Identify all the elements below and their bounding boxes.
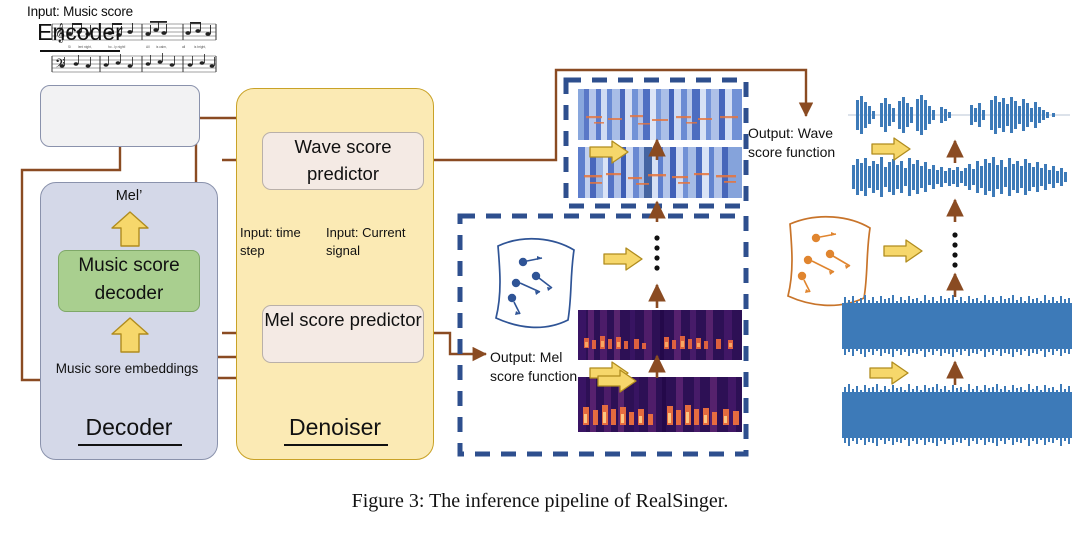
svg-text:lent night,: lent night, [78, 45, 92, 49]
yellow-up-arrow-decoder-top [108, 210, 152, 248]
yellow-right-arrow-wave-top [870, 136, 912, 162]
ellipsis-dots-wave [952, 232, 957, 267]
svg-text:is bright,: is bright, [194, 45, 206, 49]
music-score-embeddings-label: Music sore embeddings [52, 360, 202, 378]
encoder-box [40, 85, 200, 147]
yellow-right-arrow-mel-manifold [602, 246, 644, 272]
yellow-up-arrow-decoder-bottom [108, 316, 152, 354]
yellow-right-arrow-wave-spec [588, 139, 630, 165]
svg-text:Si: Si [68, 45, 71, 49]
decoder-title-underline [78, 444, 182, 446]
output-mel-score-function-label: Output: Mel score function [490, 348, 594, 386]
input-time-step-label: Input: time step [240, 224, 320, 259]
svg-text:all: all [182, 45, 185, 49]
yellow-right-arrow-mel-out [596, 368, 638, 394]
encoder-title: Encoder [0, 20, 160, 44]
yellow-right-arrow-wave-manifold [882, 238, 924, 264]
wave-score-predictor-label: Wave score predictor [262, 134, 424, 188]
output-wave-score-function-label: Output: Wave score function [748, 124, 858, 162]
denoiser-title-underline [284, 444, 388, 446]
mel-prime-label: Mel’ [40, 188, 218, 204]
mel-spectrogram-step-n [578, 310, 742, 360]
yellow-right-arrow-wave-noise [868, 360, 910, 386]
clean-waveform-top [848, 92, 1070, 138]
figure-caption: Figure 3: The inference pipeline of Real… [0, 490, 1080, 513]
encoder-title-underline [40, 50, 120, 52]
denoiser-title: Denoiser [236, 414, 434, 441]
mel-manifold-sketch [478, 228, 588, 336]
svg-text:ho - ly night!: ho - ly night! [108, 45, 125, 49]
noise-waveform-upper [842, 295, 1072, 357]
svg-text:All: All [146, 45, 150, 49]
music-score-decoder-label: Music score decoder [58, 252, 200, 307]
figure-canvas: 𝄞 𝄢 [0, 0, 1080, 533]
noise-waveform-lower [842, 384, 1072, 446]
svg-text:is calm,: is calm, [156, 45, 167, 49]
decoder-title: Decoder [40, 414, 218, 441]
encoder-input-label: Input: Music score [0, 4, 160, 19]
noisy-mel-spectrogram-upper [578, 89, 742, 140]
mel-score-predictor-label: Mel score predictor [262, 307, 424, 334]
ellipsis-dots-mel [654, 235, 659, 270]
input-current-signal-label: Input: Current signal [326, 224, 430, 259]
